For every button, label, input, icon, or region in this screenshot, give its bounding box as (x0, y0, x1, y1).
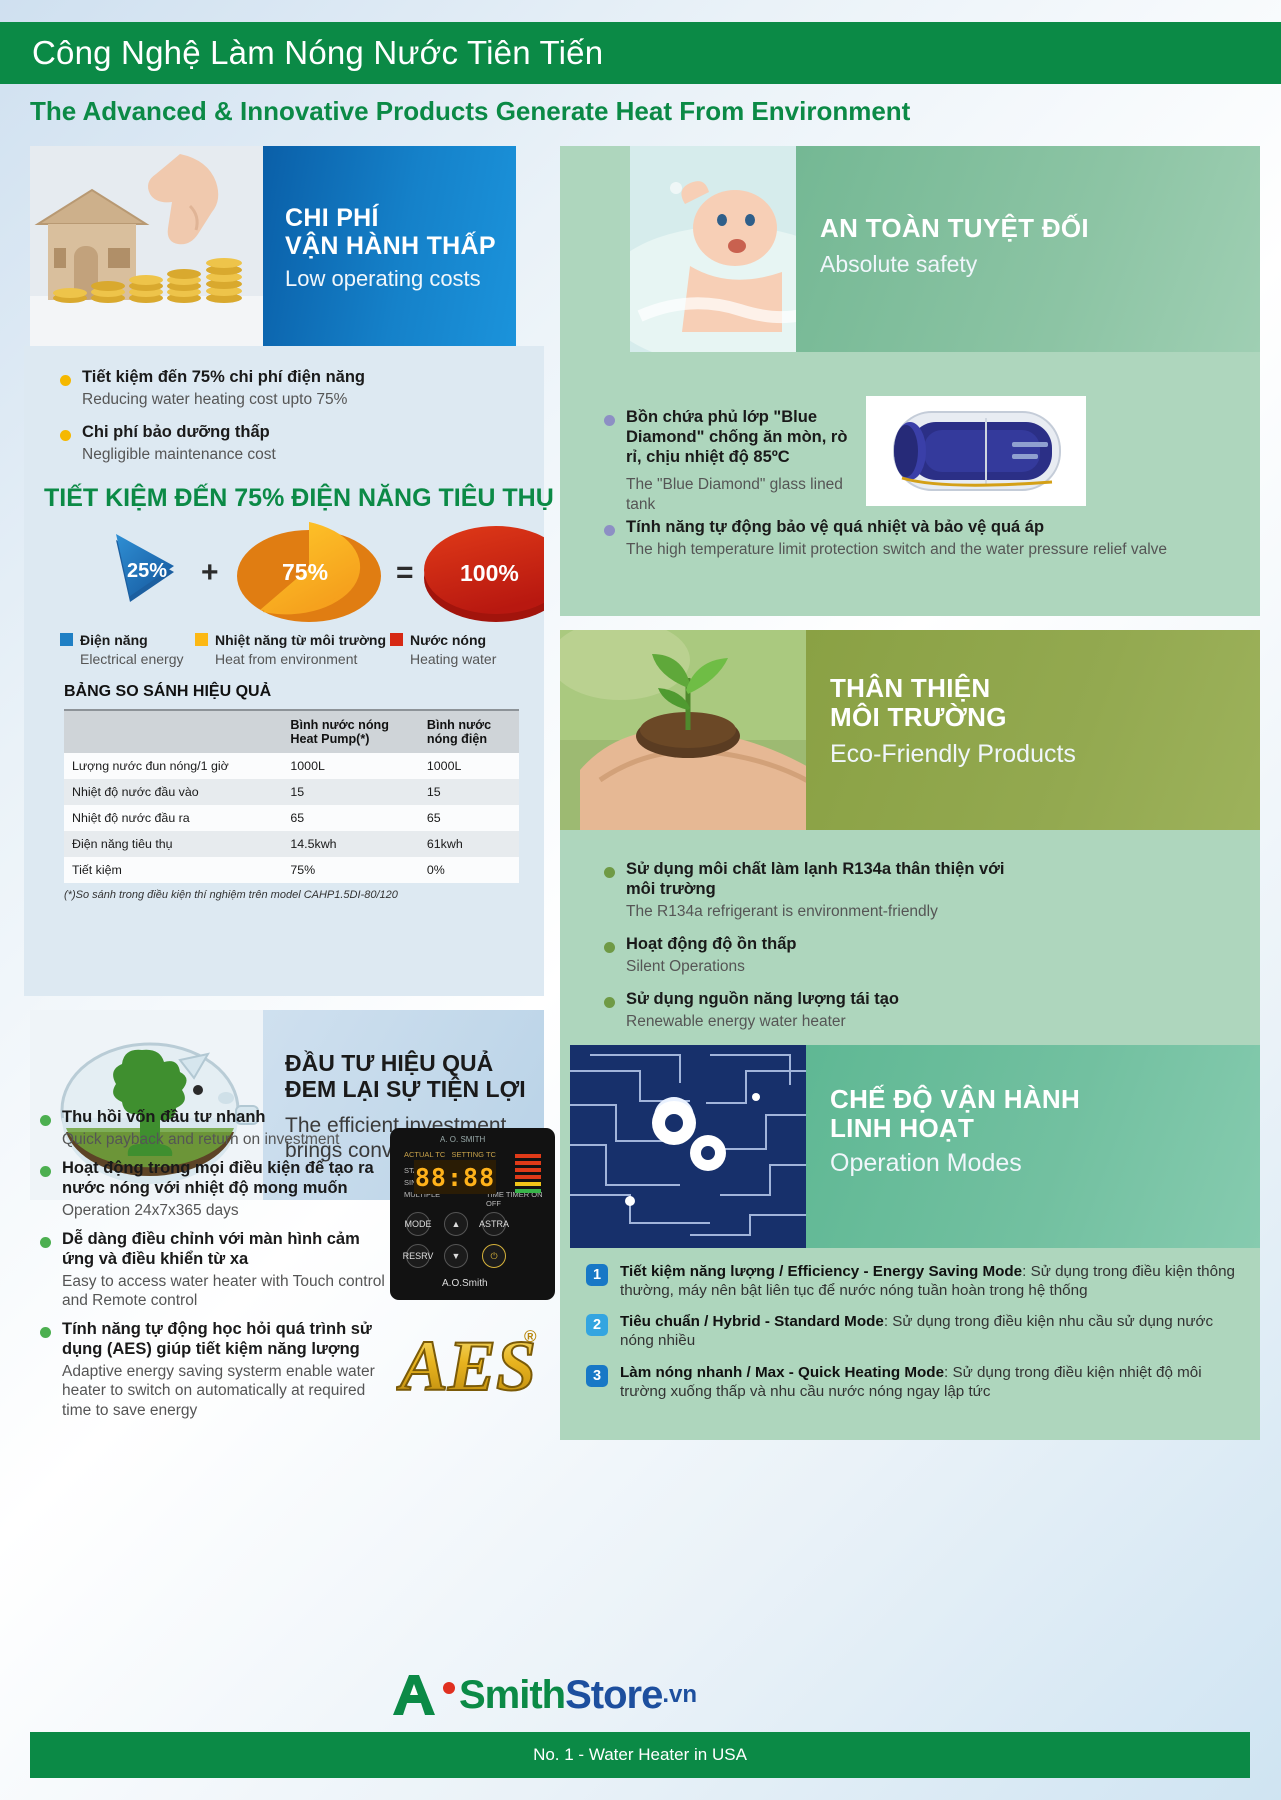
bullet-en: Silent Operations (626, 957, 1220, 976)
bullet-vn: Hoạt động trong mọi điều kiện để tạo ra … (62, 1159, 386, 1199)
blue-diamond-tank-photo (866, 396, 1086, 506)
legend-item-heat: Nhiệt năng từ môi trường Heat from envir… (195, 632, 415, 667)
col-header-2: Bình nước nóng điện (419, 710, 519, 753)
bullet-vn: Sử dụng môi chất làm lạnh R134a thân thi… (626, 860, 1026, 900)
svg-text:®: ® (524, 1327, 537, 1346)
bullet-dot-icon (40, 1327, 51, 1338)
ao-smith-store-logo[interactable]: Smith Store .vn (385, 1666, 805, 1724)
cell: 61kwh (419, 831, 519, 857)
operation-modes-list: 1 Tiết kiệm năng lượng / Efficiency - En… (584, 1262, 1244, 1413)
comparison-table-wrap: BẢNG SO SÁNH HIỆU QUẢ Bình nước nóng Hea… (64, 683, 519, 901)
mode-number-badge: 2 (586, 1314, 608, 1336)
eco-bullet-list: Sử dụng môi chất làm lạnh R134a thân thi… (600, 860, 1220, 1041)
list-item: Hoạt động độ ồn thấp Silent Operations (600, 935, 1220, 976)
legend-swatch-icon (195, 633, 208, 646)
list-item: Tính năng tự động học hỏi quá trình sử d… (36, 1320, 386, 1420)
lcd-display: 88:88 (414, 1160, 496, 1194)
cell: Nhiệt độ nước đầu ra (64, 805, 282, 831)
bullet-dot-icon (40, 1166, 51, 1177)
operation-modes-banner: CHẾ ĐỘ VẬN HÀNH LINH HOẠT Operation Mode… (806, 1045, 1260, 1248)
list-item: Sử dụng nguồn năng lượng tái tạo Renewab… (600, 990, 1220, 1031)
safety-bullet-2: Tính năng tự động bảo vệ quá nhiệt và bả… (600, 518, 1230, 569)
cell: 1000L (419, 753, 519, 779)
bullet-vn: Tính năng tự động bảo vệ quá nhiệt và bả… (626, 518, 1230, 538)
cell: 15 (419, 779, 519, 805)
cost-bullet-list: Tiết kiệm đến 75% chi phí điện năng Redu… (56, 368, 526, 474)
list-item: Dễ dàng điều chỉnh với màn hình cảm ứng … (36, 1230, 386, 1310)
bullet-vn: Tính năng tự động học hỏi quá trình sử d… (62, 1320, 386, 1360)
led-bar-icon (515, 1154, 541, 1196)
list-item: Thu hồi vốn đầu tư nhanh Quick payback a… (36, 1108, 386, 1149)
table-header-row: Bình nước nóng Heat Pump(*) Bình nước nó… (64, 710, 519, 753)
cost-banner-title-1: CHI PHÍ (285, 204, 516, 232)
ops-subtitle: Operation Modes (830, 1149, 1260, 1178)
page-title: Công Nghệ Làm Nóng Nước Tiên Tiến (32, 34, 603, 72)
savings-heading: TIẾT KIỆM ĐẾN 75% ĐIỆN NĂNG TIÊU THỤ (44, 484, 554, 513)
list-item: Tiết kiệm đến 75% chi phí điện năng Redu… (56, 368, 526, 409)
table-row: Nhiệt độ nước đầu ra6565 (64, 805, 519, 831)
comparison-table: Bình nước nóng Heat Pump(*) Bình nước nó… (64, 709, 519, 883)
safety-title: AN TOÀN TUYỆT ĐỐI (820, 214, 1260, 243)
cell: 14.5kwh (282, 831, 419, 857)
mode-button[interactable]: MODE (406, 1212, 430, 1236)
cell: Nhiệt độ nước đầu vào (64, 779, 282, 805)
cell: 0% (419, 857, 519, 883)
bullet-vn: Thu hồi vốn đầu tư nhanh (62, 1108, 386, 1128)
mode-bold: Tiêu chuẩn / Hybrid - Standard Mode (620, 1313, 884, 1330)
eco-title-2: MÔI TRƯỜNG (830, 703, 1260, 732)
eco-subtitle: Eco-Friendly Products (830, 740, 1260, 769)
svg-text:+: + (201, 556, 219, 589)
bullet-dot-icon (60, 430, 71, 441)
down-button[interactable]: ▼ (444, 1244, 468, 1268)
cell: 15 (282, 779, 419, 805)
bullet-en: Renewable energy water heater (626, 1012, 1220, 1031)
bullet-en: Negligible maintenance cost (82, 445, 526, 464)
investment-bullet-list: Thu hồi vốn đầu tư nhanh Quick payback a… (36, 1108, 386, 1430)
up-button[interactable]: ▲ (444, 1212, 468, 1236)
legend-en: Heat from environment (215, 651, 415, 667)
mode-bold: Làm nóng nhanh / Max - Quick Heating Mod… (620, 1364, 944, 1381)
cell: 65 (282, 805, 419, 831)
header-band: Công Nghệ Làm Nóng Nước Tiên Tiến (0, 22, 1281, 84)
logo-dot-icon (443, 1682, 455, 1694)
ops-title-1: CHẾ ĐỘ VẬN HÀNH (830, 1085, 1260, 1114)
svg-text:100%: 100% (460, 560, 519, 586)
energy-pie-chart: 25% + 75% = 100% (44, 520, 544, 630)
legend-en: Heating water (410, 651, 550, 667)
svg-text:AES: AES (396, 1326, 536, 1406)
list-item: Hoạt động trong mọi điều kiện để tạo ra … (36, 1159, 386, 1220)
col-header-1: Bình nước nóng Heat Pump(*) (282, 710, 419, 753)
bullet-dot-icon (604, 997, 615, 1008)
eco-friendly-banner: THÂN THIỆN MÔI TRƯỜNG Eco-Friendly Produ… (806, 630, 1260, 830)
table-row: Điện năng tiêu thụ14.5kwh61kwh (64, 831, 519, 857)
cell: 65 (419, 805, 519, 831)
mode-bold: Tiết kiệm năng lượng / Efficiency - Ener… (620, 1263, 1022, 1280)
logo-smith-text: Smith (459, 1673, 565, 1718)
mode-item-1: 1 Tiết kiệm năng lượng / Efficiency - En… (584, 1262, 1244, 1300)
legend-swatch-icon (60, 633, 73, 646)
table-row: Tiết kiệm75%0% (64, 857, 519, 883)
mode-item-2: 2 Tiêu chuẩn / Hybrid - Standard Mode: S… (584, 1312, 1244, 1350)
cell: Điện năng tiêu thụ (64, 831, 282, 857)
cost-banner-subtitle: Low operating costs (285, 266, 516, 291)
eco-title-1: THÂN THIỆN (830, 674, 1260, 703)
table-row: Nhiệt độ nước đầu vào1515 (64, 779, 519, 805)
bullet-en: Quick payback and return on investment (62, 1130, 386, 1149)
bullet-dot-icon (604, 525, 615, 536)
bullet-en: Operation 24x7x365 days (62, 1201, 386, 1220)
circuit-gears-photo (570, 1045, 815, 1248)
legend-vn: Điện năng (80, 632, 148, 648)
reserv-button[interactable]: RESRV (406, 1244, 430, 1268)
astra-button[interactable]: ASTRA (482, 1212, 506, 1236)
page-subtitle: The Advanced & Innovative Products Gener… (30, 96, 910, 127)
table-title: BẢNG SO SÁNH HIỆU QUẢ (64, 683, 519, 701)
mode-number-badge: 1 (586, 1264, 608, 1286)
absolute-safety-banner: AN TOÀN TUYỆT ĐỐI Absolute safety (796, 146, 1260, 352)
safety-bullet-1: Bồn chứa phủ lớp "Blue Diamond" chống ăn… (600, 408, 862, 524)
hands-plant-photo (560, 630, 825, 830)
invest-title-1: ĐẦU TƯ HIỆU QUẢ (285, 1050, 544, 1076)
list-item: Chi phí bảo dưỡng thấp Negligible mainte… (56, 423, 526, 464)
coins-house-photo (30, 146, 273, 346)
mode-number-badge: 3 (586, 1365, 608, 1387)
legend-swatch-icon (390, 633, 403, 646)
logo-store-text: Store (565, 1673, 662, 1718)
control-panel-photo: A. O. SMITH ACTUAL TC SETTING TC STANDAR… (390, 1128, 555, 1300)
control-brand-bottom: A.O.Smith (442, 1278, 488, 1289)
svg-text:25%: 25% (127, 560, 167, 582)
list-item: Sử dụng môi chất làm lạnh R134a thân thi… (600, 860, 1220, 921)
cell: Tiết kiệm (64, 857, 282, 883)
footer-tagline: No. 1 - Water Heater in USA (30, 1732, 1250, 1778)
invest-title-2: ĐEM LẠI SỰ TIỆN LỢI (285, 1076, 544, 1102)
footer-band: No. 1 - Water Heater in USA (30, 1732, 1250, 1778)
svg-text:75%: 75% (282, 559, 328, 585)
logo-vn-text: .vn (662, 1681, 697, 1709)
bullet-vn: Bồn chứa phủ lớp "Blue Diamond" chống ăn… (626, 408, 862, 467)
bullet-vn: Chi phí bảo dưỡng thấp (82, 423, 526, 443)
cell: 1000L (282, 753, 419, 779)
cell: Lượng nước đun nóng/1 giờ (64, 753, 282, 779)
bullet-en: The high temperature limit protection sw… (626, 540, 1230, 559)
col-header-0 (64, 710, 282, 753)
bullet-en: Reducing water heating cost upto 75% (82, 390, 526, 409)
ops-title-2: LINH HOẠT (830, 1114, 1260, 1143)
bullet-dot-icon (604, 415, 615, 426)
power-button[interactable]: ⏻ (482, 1244, 506, 1268)
logo-a-icon (385, 1669, 441, 1721)
bullet-en: Adaptive energy saving systerm enable wa… (62, 1362, 386, 1420)
bullet-dot-icon (60, 375, 71, 386)
table-footnote: (*)So sánh trong điều kiện thí nghiệm tr… (64, 889, 519, 901)
infographic-page: Công Nghệ Làm Nóng Nước Tiên Tiến The Ad… (0, 0, 1281, 1800)
bullet-dot-icon (604, 867, 615, 878)
cost-banner-title-2: VẬN HÀNH THẤP (285, 232, 516, 260)
bullet-vn: Sử dụng nguồn năng lượng tái tạo (626, 990, 1220, 1010)
table-row: Lượng nước đun nóng/1 giờ1000L1000L (64, 753, 519, 779)
bullet-en: The R134a refrigerant is environment-fri… (626, 902, 1220, 921)
list-item: Bồn chứa phủ lớp "Blue Diamond" chống ăn… (600, 408, 862, 514)
control-brand-top: A. O. SMITH (440, 1135, 485, 1144)
bullet-vn: Hoạt động độ ồn thấp (626, 935, 1220, 955)
bullet-en: Easy to access water heater with Touch c… (62, 1272, 386, 1311)
low-operating-cost-banner: CHI PHÍ VẬN HÀNH THẤP Low operating cost… (263, 146, 516, 346)
bullet-dot-icon (604, 942, 615, 953)
aes-logo: AES ® (396, 1310, 556, 1420)
cell: 75% (282, 857, 419, 883)
safety-subtitle: Absolute safety (820, 251, 1260, 277)
svg-text:=: = (396, 556, 414, 589)
list-item: Tính năng tự động bảo vệ quá nhiệt và bả… (600, 518, 1230, 559)
bullet-vn: Tiết kiệm đến 75% chi phí điện năng (82, 368, 526, 388)
legend-item-hotwater: Nước nóng Heating water (390, 632, 550, 667)
bullet-dot-icon (40, 1237, 51, 1248)
mode-item-3: 3 Làm nóng nhanh / Max - Quick Heating M… (584, 1363, 1244, 1401)
bullet-vn: Dễ dàng điều chỉnh với màn hình cảm ứng … (62, 1230, 386, 1270)
legend-vn: Nước nóng (410, 632, 486, 648)
bullet-en: The "Blue Diamond" glass lined tank (626, 475, 862, 514)
bullet-dot-icon (40, 1115, 51, 1126)
legend-vn: Nhiệt năng từ môi trường (215, 632, 386, 648)
